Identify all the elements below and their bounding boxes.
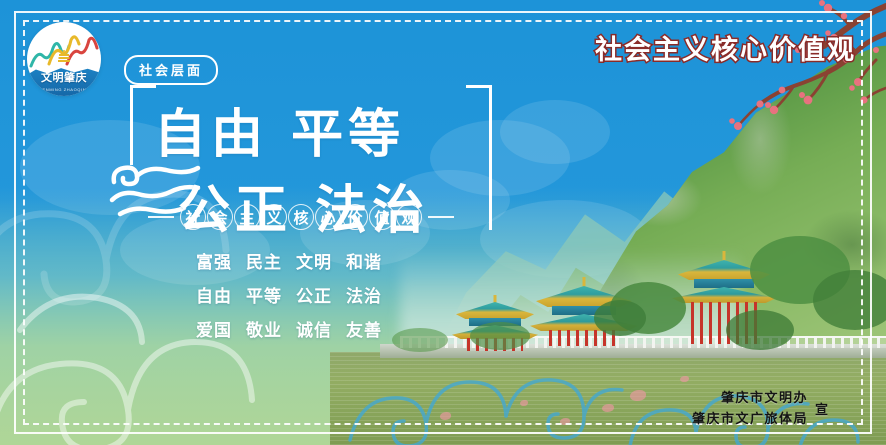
value-item: 敬业 [246,316,282,341]
subtitle-char: 社 [180,204,206,230]
subtitle-characters: 社 会 主 义 核 心 价 值 观 [180,204,422,230]
values-row: 爱国 敬业 诚信 友善 [196,316,416,341]
organization-line-2: 肇庆市文广旅体局 [692,408,808,427]
subtitle-row: 社 会 主 义 核 心 价 值 观 [148,202,468,232]
value-item: 富强 [196,248,232,273]
core-values-list: 富强 民主 文明 和谐 自由 平等 公正 法治 爱国 敬业 诚信 友善 [196,248,416,341]
subtitle-char: 会 [207,204,233,230]
subtitle-char: 核 [288,204,314,230]
poster-canvas: 文明肇庆 WENMING ZHAOQING 社会主义核心价值观 社会层面 自由 … [0,0,886,445]
logo-pinyin-text: WENMING ZHAOQING [27,87,101,92]
attribution: 肇庆市文明办 肇庆市文广旅体局 宣 [692,387,828,427]
values-row: 富强 民主 文明 和谐 [196,248,416,273]
values-row: 自由 平等 公正 法治 [196,282,416,307]
value-item: 公正 [296,282,332,307]
subtitle-char: 心 [315,204,341,230]
plum-blossom-branch [716,0,886,135]
value-item: 自由 [196,282,232,307]
subtitle-char: 义 [261,204,287,230]
subtitle-char: 价 [342,204,368,230]
value-item: 法治 [346,282,382,307]
pagoda-icon [57,50,71,66]
value-item: 诚信 [296,316,332,341]
page-title: 社会主义核心价值观 [595,28,856,67]
headline-line-1: 自由 平等 [154,92,405,167]
wenming-zhaoqing-logo[interactable]: 文明肇庆 WENMING ZHAOQING [27,22,101,96]
subtitle-dash-right [428,216,454,218]
logo-chinese-text: 文明肇庆 [27,69,101,85]
subtitle-dash-left [148,216,174,218]
attribution-suffix: 宣 [815,399,828,427]
value-item: 爱国 [196,316,232,341]
value-item: 平等 [246,282,282,307]
subtitle-char: 值 [369,204,395,230]
organization-names: 肇庆市文明办 肇庆市文广旅体局 [692,387,808,427]
value-item: 和谐 [346,248,382,273]
value-item: 文明 [296,248,332,273]
subtitle-char: 主 [234,204,260,230]
value-item: 友善 [346,316,382,341]
value-item: 民主 [246,248,282,273]
organization-line-1: 肇庆市文明办 [721,387,808,406]
subtitle-char: 观 [396,204,422,230]
bracket-top-left [130,85,156,165]
